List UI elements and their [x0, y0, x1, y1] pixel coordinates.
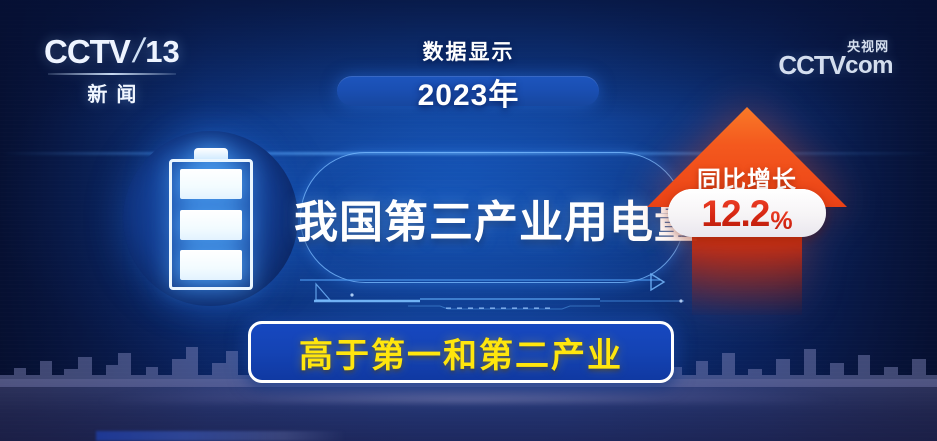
- growth-percentage-value: 12.2: [701, 195, 769, 232]
- battery-icon: [163, 148, 259, 290]
- main-statistic-title: 我国第三产业用电量: [294, 186, 654, 250]
- battery-segment: [180, 250, 242, 280]
- hud-decoration: [300, 278, 700, 310]
- battery-segment: [180, 169, 242, 199]
- lower-third-hint: [96, 431, 346, 441]
- header-subtitle: 数据显示: [0, 36, 937, 66]
- footer-banner: 高于第一和第二产业: [248, 321, 674, 383]
- growth-percentage-symbol: %: [770, 209, 792, 234]
- growth-percentage-pill: 12.2 %: [668, 189, 826, 237]
- footer-banner-text: 高于第一和第二产业: [299, 328, 623, 377]
- battery-body: [169, 159, 253, 290]
- broadcast-infographic: CCTV / 13 新闻 CCTV 央视网 com 数据显示 2023年 我国第…: [0, 0, 937, 441]
- battery-segment: [180, 210, 242, 240]
